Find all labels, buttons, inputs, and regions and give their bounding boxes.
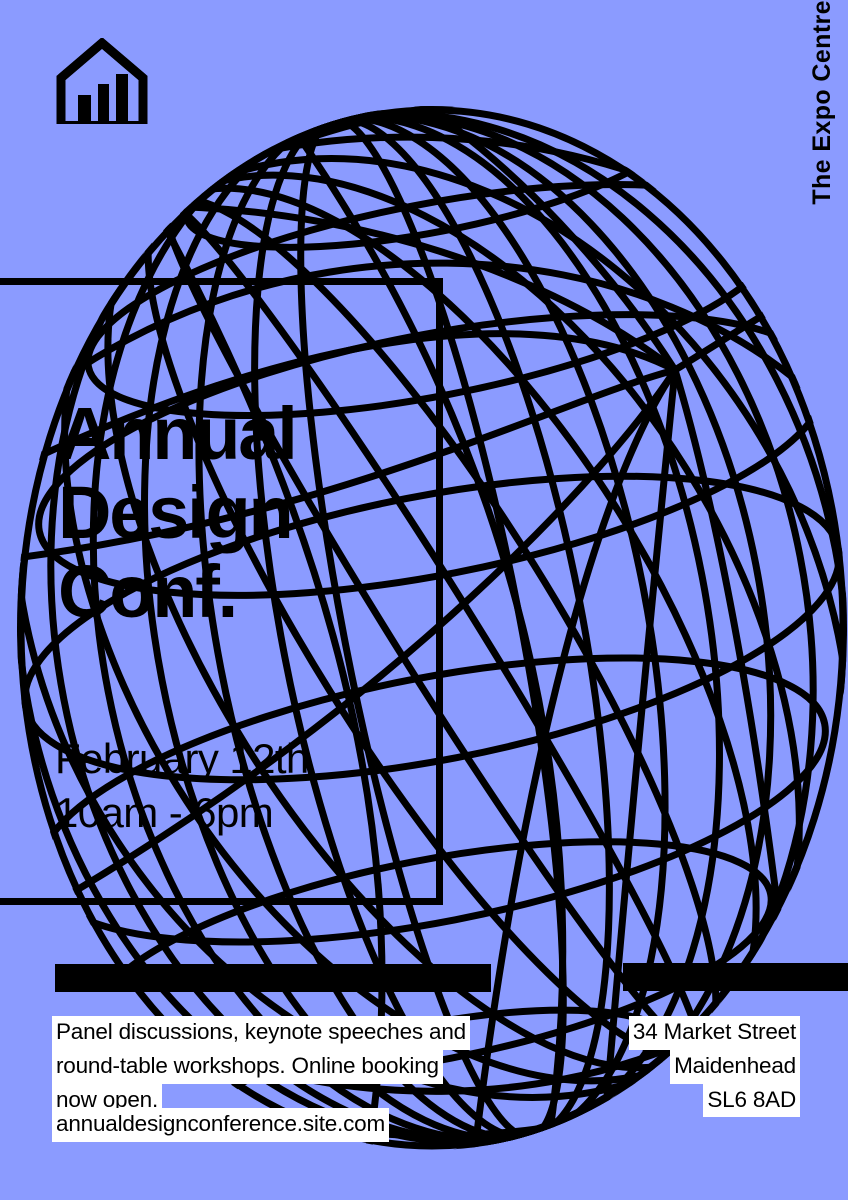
description-line: round-table workshops. Online booking: [52, 1050, 443, 1084]
address-line: 34 Market Street: [629, 1016, 800, 1050]
event-datetime: February 12th 10am - 6pm: [55, 732, 435, 840]
website-url-text[interactable]: annualdesignconference.site.com: [52, 1108, 389, 1142]
venue-label: The Expo Centre: [810, 0, 835, 213]
event-description: Panel discussions, keynote speeches and …: [52, 1016, 512, 1117]
description-line: Panel discussions, keynote speeches and: [52, 1016, 470, 1050]
venue-address: 34 Market Street Maidenhead SL6 8AD: [629, 1016, 800, 1117]
page-title: Annual Design Conf.: [58, 394, 438, 632]
black-rule-right: [623, 963, 848, 991]
address-line: SL6 8AD: [703, 1084, 800, 1118]
address-line: Maidenhead: [670, 1050, 800, 1084]
house-bar-chart-logo: [56, 38, 148, 124]
poster-canvas: The Expo Centre Annual Design Conf. Febr…: [0, 0, 848, 1200]
venue-name: The Expo Centre: [792, 0, 848, 300]
website-url[interactable]: annualdesignconference.site.com: [52, 1108, 389, 1142]
black-rule-left: [55, 964, 491, 992]
